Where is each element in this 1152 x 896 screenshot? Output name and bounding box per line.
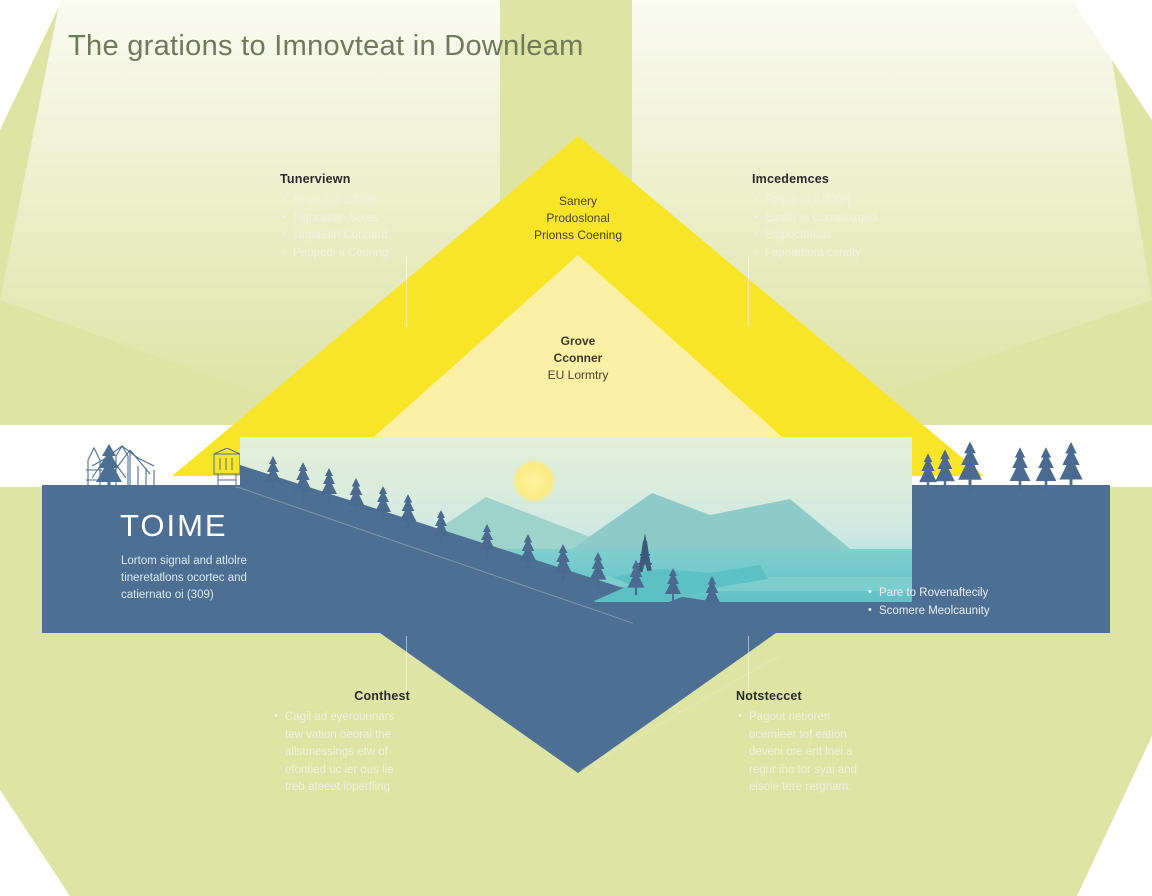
band-center-base	[240, 602, 912, 633]
triangle-lower-line2: Cconner	[478, 350, 678, 367]
block-bottom-right-list: Pagout netioren ocemieer tof eation deve…	[736, 709, 857, 796]
block-bottom-right-heading: Notsteccet	[736, 689, 857, 703]
block-top-right: Imcedemces Ptople in 0 000H Easlsr in Co…	[752, 172, 877, 262]
connector-tick-left-bottom	[406, 636, 407, 694]
list-item: eisoie tere rergnam.	[736, 779, 857, 796]
block-bottom-left-heading: Conthest	[272, 689, 410, 703]
list-item: deveni ore ent lnei a	[736, 744, 857, 761]
pine-tree-icon	[1058, 440, 1084, 490]
list-item: regur iho tor syai and	[736, 762, 857, 779]
pine-tree-icon	[552, 543, 574, 581]
block-top-left-heading: Tunerviewn	[280, 172, 388, 186]
pine-tree-icon	[292, 461, 314, 499]
pine-tree-icon	[432, 509, 450, 543]
list-item: Heye in it 1006m	[280, 192, 388, 209]
connector-tick-right-top	[748, 255, 749, 327]
list-item: Ptople in 0 000H	[752, 192, 877, 209]
triangle-upper-line1: Sanery	[478, 193, 678, 210]
band-body-line3: catiernato oi (309)	[121, 587, 351, 604]
connector-tick-left-top	[406, 255, 407, 327]
pine-tree-icon	[1008, 446, 1032, 490]
block-band-right-list: Pare to Rovenaftecily Scomere Meolcaunit…	[866, 585, 990, 619]
block-bottom-left: Conthest Cagil ad eyerouunars tew vation…	[272, 689, 410, 797]
block-bottom-left-list: Cagil ad eyerouunars tew vation oeorai t…	[272, 709, 410, 796]
triangle-upper-line3: Prionss Coening	[478, 227, 678, 244]
pine-tree-icon	[664, 567, 682, 601]
pine-tree-icon	[92, 442, 126, 490]
triangle-lower-label: Grove Cconner EU Lormtry	[478, 333, 678, 384]
triangle-lower-line3: EU Lormtry	[478, 367, 678, 384]
band-body: Lortom signal and atlolre tineretatlons …	[121, 553, 351, 604]
infographic-canvas: The grations to Imnovteat in Downleam Tu…	[0, 0, 1152, 896]
pine-tree-icon	[478, 523, 496, 557]
page-title: The grations to Imnovteat in Downleam	[68, 30, 584, 63]
pine-tree-icon	[518, 533, 538, 569]
triangle-upper-label: Sanery Prodoslonal Prionss Coening	[478, 193, 678, 244]
pine-tree-icon	[398, 493, 418, 529]
list-item: treb ateeet ioperfling	[272, 779, 410, 796]
pine-tree-icon	[934, 448, 956, 490]
pine-tree-icon	[346, 477, 366, 513]
pine-tree-icon	[264, 455, 282, 489]
list-item: Peupedi a Ceoring	[280, 245, 388, 262]
list-item: allstmessings etw of	[272, 744, 410, 761]
block-top-right-list: Ptople in 0 000H Easlsr in Compioxged Eo…	[752, 192, 877, 261]
list-item: Cagil ad eyerouunars	[272, 709, 410, 726]
band-heading: TOIME	[120, 508, 228, 544]
list-item: Linpaetirt Conoard	[280, 227, 388, 244]
block-top-left: Tunerviewn Heye in it 1006m Fighcattiin …	[280, 172, 388, 262]
triangle-upper-line2: Prodoslonal	[478, 210, 678, 227]
block-band-right: Pare to Rovenaftecily Scomere Meolcaunit…	[866, 585, 990, 620]
block-top-right-heading: Imcedemces	[752, 172, 877, 186]
block-bottom-right: Notsteccet Pagout netioren ocemieer tof …	[736, 689, 857, 797]
list-item: Fapeartiora cendty	[752, 245, 877, 262]
band-body-line1: Lortom signal and atlolre	[121, 553, 351, 570]
list-item: Easlsr in Compioxged	[752, 210, 877, 227]
pine-tree-icon	[1034, 446, 1058, 490]
list-item: Eoipocteteas	[752, 227, 877, 244]
list-item: Pare to Rovenaftecily	[866, 585, 990, 602]
sun-icon	[512, 459, 556, 503]
list-item: Fighcattiin Sores	[280, 210, 388, 227]
triangle-lower-line1: Grove	[478, 333, 678, 350]
pine-tree-icon	[320, 467, 338, 501]
pine-tree-icon	[956, 440, 984, 490]
connector-tick-right-bottom	[748, 636, 749, 694]
block-top-left-list: Heye in it 1006m Fighcattiin Sores Linpa…	[280, 192, 388, 261]
list-item: efontied uc ier ous lie	[272, 762, 410, 779]
list-item: ocemieer tof eation	[736, 727, 857, 744]
list-item: Scomere Meolcaunity	[866, 603, 990, 620]
list-item: Pagout netioren	[736, 709, 857, 726]
list-item: tew vation oeorai the	[272, 727, 410, 744]
pine-tree-icon	[374, 485, 392, 519]
pine-tree-icon	[626, 559, 646, 595]
band-body-line2: tineretatlons ocortec and	[121, 570, 351, 587]
pine-tree-icon	[588, 551, 608, 587]
